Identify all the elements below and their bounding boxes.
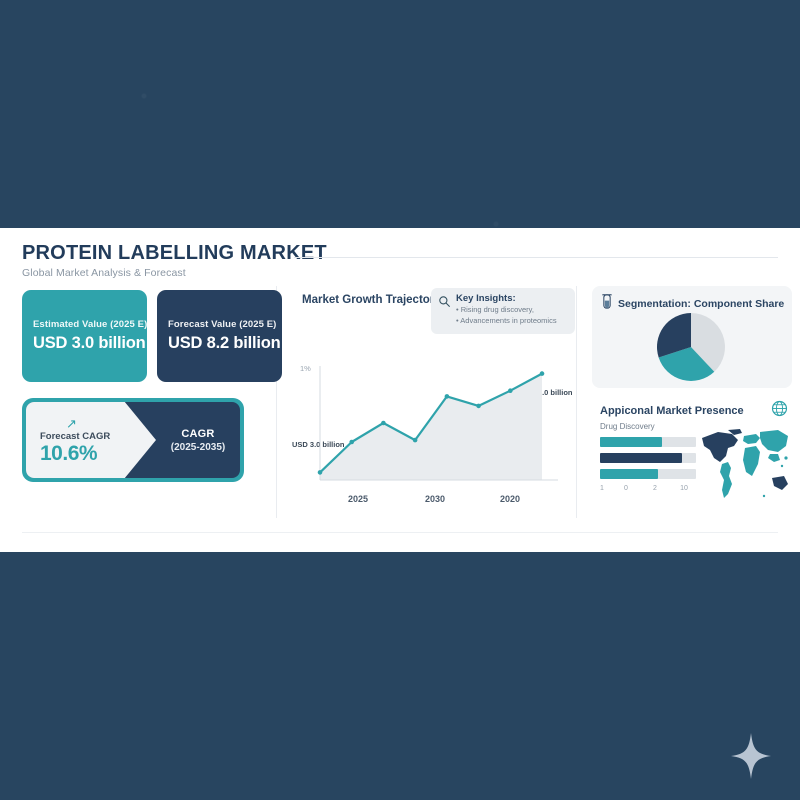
x-axis-ticks: 2025 2030 2020 bbox=[298, 494, 560, 508]
area-line-chart bbox=[298, 360, 560, 490]
cagr-label: Forecast CAGR bbox=[40, 431, 156, 442]
cagr-right-panel: CAGR (2025-2035) bbox=[156, 402, 240, 478]
bar-axis-ticks: 1 0 2 10 bbox=[600, 485, 696, 497]
kpi-card-group: Estimated Value (2025 E) USD 3.0 billion… bbox=[22, 290, 282, 382]
key-insight-item: • Advancements in proteomics bbox=[456, 316, 557, 327]
kpi-label: Estimated Value (2025 E) bbox=[33, 319, 136, 330]
bar-tick-label: 10 bbox=[680, 485, 688, 492]
page-title: PROTEIN LABELLING MARKET bbox=[22, 243, 778, 264]
bar-tick-label: 2 bbox=[653, 485, 657, 492]
bar-row bbox=[600, 469, 696, 479]
divider-bottom bbox=[22, 532, 778, 533]
kpi-card-forecast-value[interactable]: Forecast Value (2025 E) USD 8.2 billion bbox=[157, 290, 282, 382]
kpi-label: Forecast Value (2025 E) bbox=[168, 319, 271, 330]
bar-chart-label: Drug Discovery bbox=[600, 422, 696, 431]
key-insight-item: • Rising drug discovery, bbox=[456, 305, 557, 316]
cagr-value: 10.6% bbox=[40, 443, 156, 464]
header-divider bbox=[294, 257, 778, 258]
bar-fill bbox=[600, 437, 662, 447]
kpi-value: USD 8.2 billion bbox=[168, 334, 271, 353]
cagr-left-panel: ↗ Forecast CAGR 10.6% bbox=[26, 402, 156, 478]
bar-fill bbox=[600, 469, 658, 479]
kpi-card-estimated-value[interactable]: Estimated Value (2025 E) USD 3.0 billion bbox=[22, 290, 147, 382]
bar-tick-label: 1 bbox=[600, 485, 604, 492]
key-insights-box[interactable]: Key Insights: • Rising drug discovery, •… bbox=[431, 288, 575, 334]
infographic-canvas: PROTEIN LABELLING MARKET Global Market A… bbox=[0, 0, 800, 800]
world-map-graphic bbox=[698, 424, 792, 506]
segmentation-title: Segmentation: Component Share bbox=[618, 298, 784, 310]
test-tube-icon bbox=[601, 294, 613, 314]
content-band: PROTEIN LABELLING MARKET Global Market A… bbox=[0, 228, 800, 552]
arrow-up-right-icon: ↗ bbox=[66, 417, 156, 430]
x-tick-label: 2020 bbox=[500, 494, 520, 504]
key-insights-heading: Key Insights: bbox=[456, 294, 557, 305]
bar-fill bbox=[600, 453, 682, 463]
bar-row bbox=[600, 437, 696, 447]
search-icon bbox=[438, 295, 451, 328]
page-subtitle: Global Market Analysis & Forecast bbox=[22, 267, 778, 279]
sparkle-icon bbox=[731, 733, 771, 779]
growth-chart-title: Market Growth Trajectory bbox=[302, 294, 441, 306]
globe-icon bbox=[771, 400, 788, 422]
bar-tick-label: 0 bbox=[624, 485, 628, 492]
segmentation-panel: Segmentation: Component Share bbox=[592, 286, 792, 388]
divider-right bbox=[576, 286, 577, 518]
regional-title: Appiconal Market Presence bbox=[600, 405, 744, 417]
x-tick-label: 2030 bbox=[425, 494, 445, 504]
x-tick-label: 2025 bbox=[348, 494, 368, 504]
cagr-banner[interactable]: ↗ Forecast CAGR 10.6% CAGR (2025-2035) bbox=[22, 398, 244, 482]
regional-presence-panel: Appiconal Market Presence Drug Discovery bbox=[592, 400, 792, 520]
regional-bar-chart: Drug Discovery 1 0 2 10 bbox=[600, 422, 696, 497]
bar-row bbox=[600, 453, 696, 463]
cagr-right-title: CAGR bbox=[181, 428, 214, 440]
growth-trajectory-panel: Market Growth Trajectory Key Insights: •… bbox=[292, 288, 567, 518]
kpi-value: USD 3.0 billion bbox=[33, 334, 136, 353]
cagr-right-period: (2025-2035) bbox=[171, 442, 225, 453]
header: PROTEIN LABELLING MARKET Global Market A… bbox=[22, 243, 778, 279]
component-share-pie bbox=[654, 310, 728, 384]
